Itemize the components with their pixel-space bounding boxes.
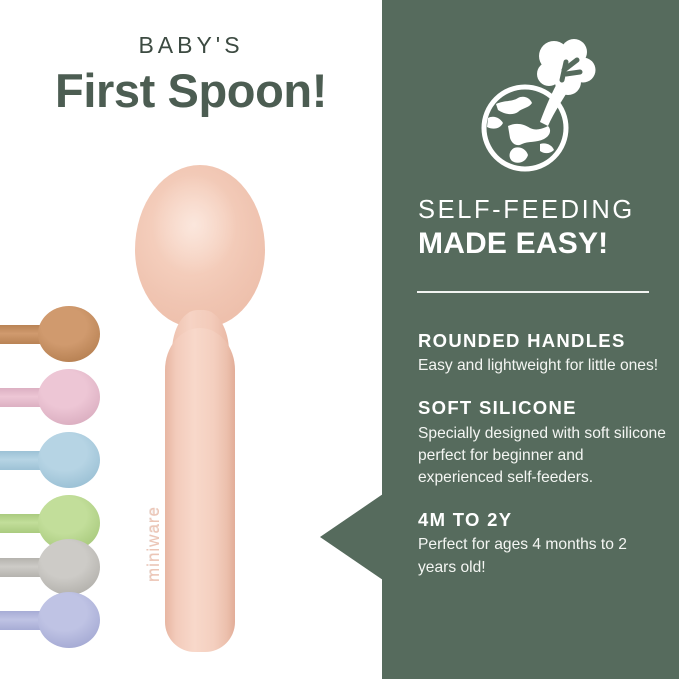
side-spoon-bowl [38,432,100,488]
side-spoon-blue [0,432,100,490]
side-spoon-bowl [38,369,100,425]
feature-title: 4M TO 2Y [418,509,666,530]
globe-broccoli-icon [478,26,598,176]
side-spoon-periwinkle [0,592,100,650]
page-title: First Spoon! [0,66,382,115]
side-spoon-grey [0,539,100,597]
heading-divider-rule [417,291,649,293]
panel-heading-top: SELF-FEEDING [418,196,664,224]
feature-body: Easy and lightweight for little ones! [418,355,666,377]
feature-body: Perfect for ages 4 months to 2 years old… [418,534,666,578]
main-spoon-image: miniware [118,160,298,660]
side-spoon-tan [0,306,100,364]
feature-list: ROUNDED HANDLESEasy and lightweight for … [418,330,666,599]
infographic-page: BABY'S First Spoon! miniware [0,0,679,679]
spoon-handle [165,356,235,652]
left-white-section: BABY'S First Spoon! miniware [0,0,382,679]
spoon-bowl [135,165,265,328]
feature-item: SOFT SILICONESpecially designed with sof… [418,397,666,489]
side-spoon-pink [0,369,100,427]
feature-title: ROUNDED HANDLES [418,330,666,351]
feature-item: 4M TO 2YPerfect for ages 4 months to 2 y… [418,509,666,579]
side-spoon-bowl [38,306,100,362]
panel-heading-main: MADE EASY! [418,228,664,260]
feature-body: Specially designed with soft silicone pe… [418,423,666,489]
eyebrow-text: BABY'S [0,34,382,57]
feature-title: SOFT SILICONE [418,397,666,418]
side-spoon-bowl [38,539,100,595]
feature-item: ROUNDED HANDLESEasy and lightweight for … [418,330,666,377]
brand-logo-embossed: miniware [144,432,174,582]
headline-block: BABY'S First Spoon! [0,34,382,115]
panel-heading: SELF-FEEDING MADE EASY! [418,196,664,260]
side-spoon-bowl [38,592,100,648]
